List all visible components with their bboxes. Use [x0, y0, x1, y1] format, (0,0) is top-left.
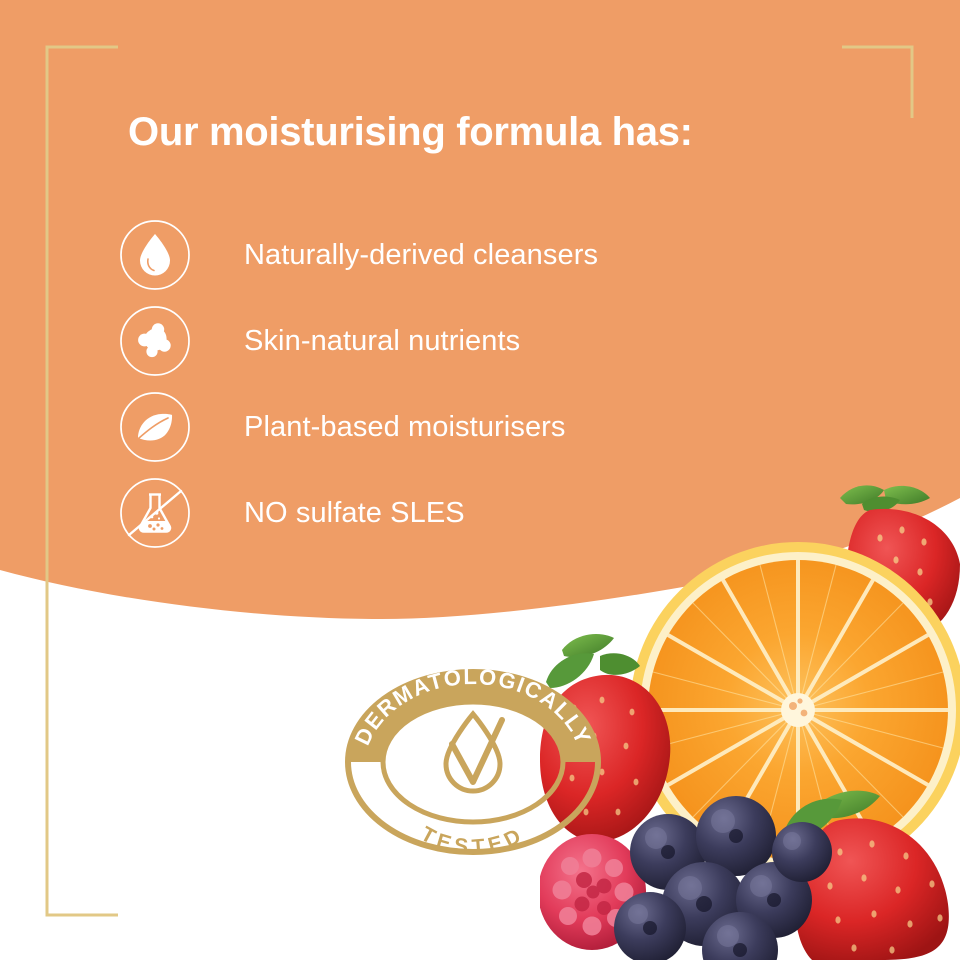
dermatologically-tested-badge: DERMATOLOGICALLY TESTED — [342, 666, 604, 858]
badge-bottom-arc-text: TESTED — [417, 822, 529, 858]
benefit-list: Naturally-derived cleansers Skin-natural… — [118, 212, 818, 556]
benefit-item-2: Skin-natural nutrients — [118, 298, 818, 384]
droplet-check-icon — [446, 714, 502, 791]
benefit-item-1-label: Naturally-derived cleansers — [244, 239, 598, 272]
benefit-item-3-label: Plant-based moisturisers — [244, 411, 566, 444]
promo-graphic-canvas: Our moisturising formula has: Naturally-… — [0, 0, 960, 960]
badge-inner-ring — [383, 702, 563, 822]
benefit-item-1: Naturally-derived cleansers — [118, 212, 818, 298]
no-chemical-flask-icon — [118, 476, 192, 550]
water-drop-icon — [118, 218, 192, 292]
benefit-item-4-label: NO sulfate SLES — [244, 497, 465, 530]
molecule-nutrient-icon — [118, 304, 192, 378]
benefit-item-3: Plant-based moisturisers — [118, 384, 818, 470]
benefit-item-2-label: Skin-natural nutrients — [244, 325, 520, 358]
page-title: Our moisturising formula has: — [128, 110, 888, 154]
benefit-item-4: NO sulfate SLES — [118, 470, 818, 556]
leaf-icon — [118, 390, 192, 464]
blueberry — [772, 822, 832, 882]
